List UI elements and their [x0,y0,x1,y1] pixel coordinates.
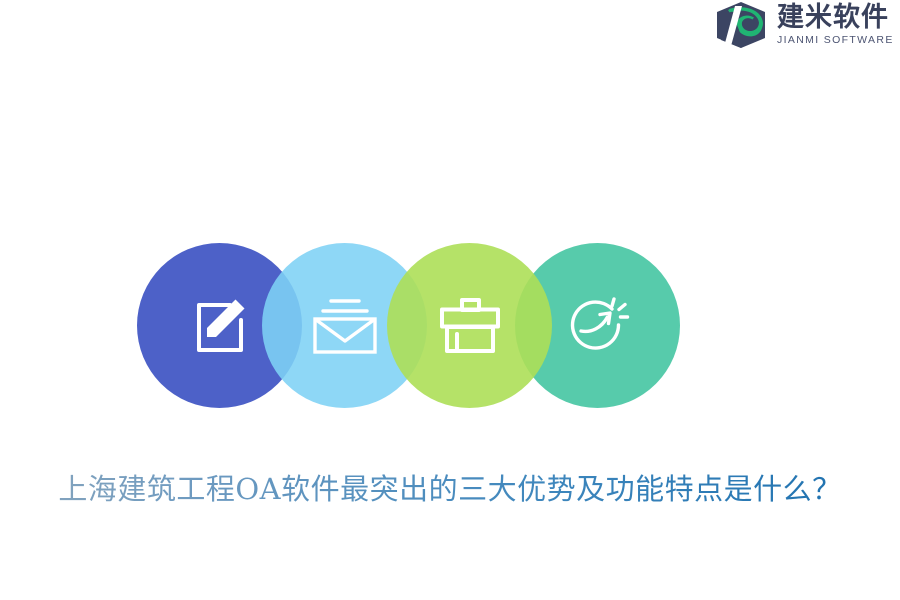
page-title: 上海建筑工程OA软件最突出的三大优势及功能特点是什么？ [0,466,900,508]
edit-square-icon [187,293,253,359]
logo-name-cn: 建米软件 [777,4,894,31]
growth-arrow-icon [565,295,631,357]
envelope-icon [309,295,381,357]
logo-wordmark: 建米软件 JIANMI SOFTWARE [777,4,894,46]
feature-circle-store [387,243,552,408]
logo-name-en: JIANMI SOFTWARE [777,35,894,46]
jianmi-hexagon-leaf-logo-icon [715,1,769,49]
feature-circle-cluster [137,243,679,409]
storefront-icon [438,296,502,356]
brand-logo: 建米软件 JIANMI SOFTWARE [715,0,895,50]
